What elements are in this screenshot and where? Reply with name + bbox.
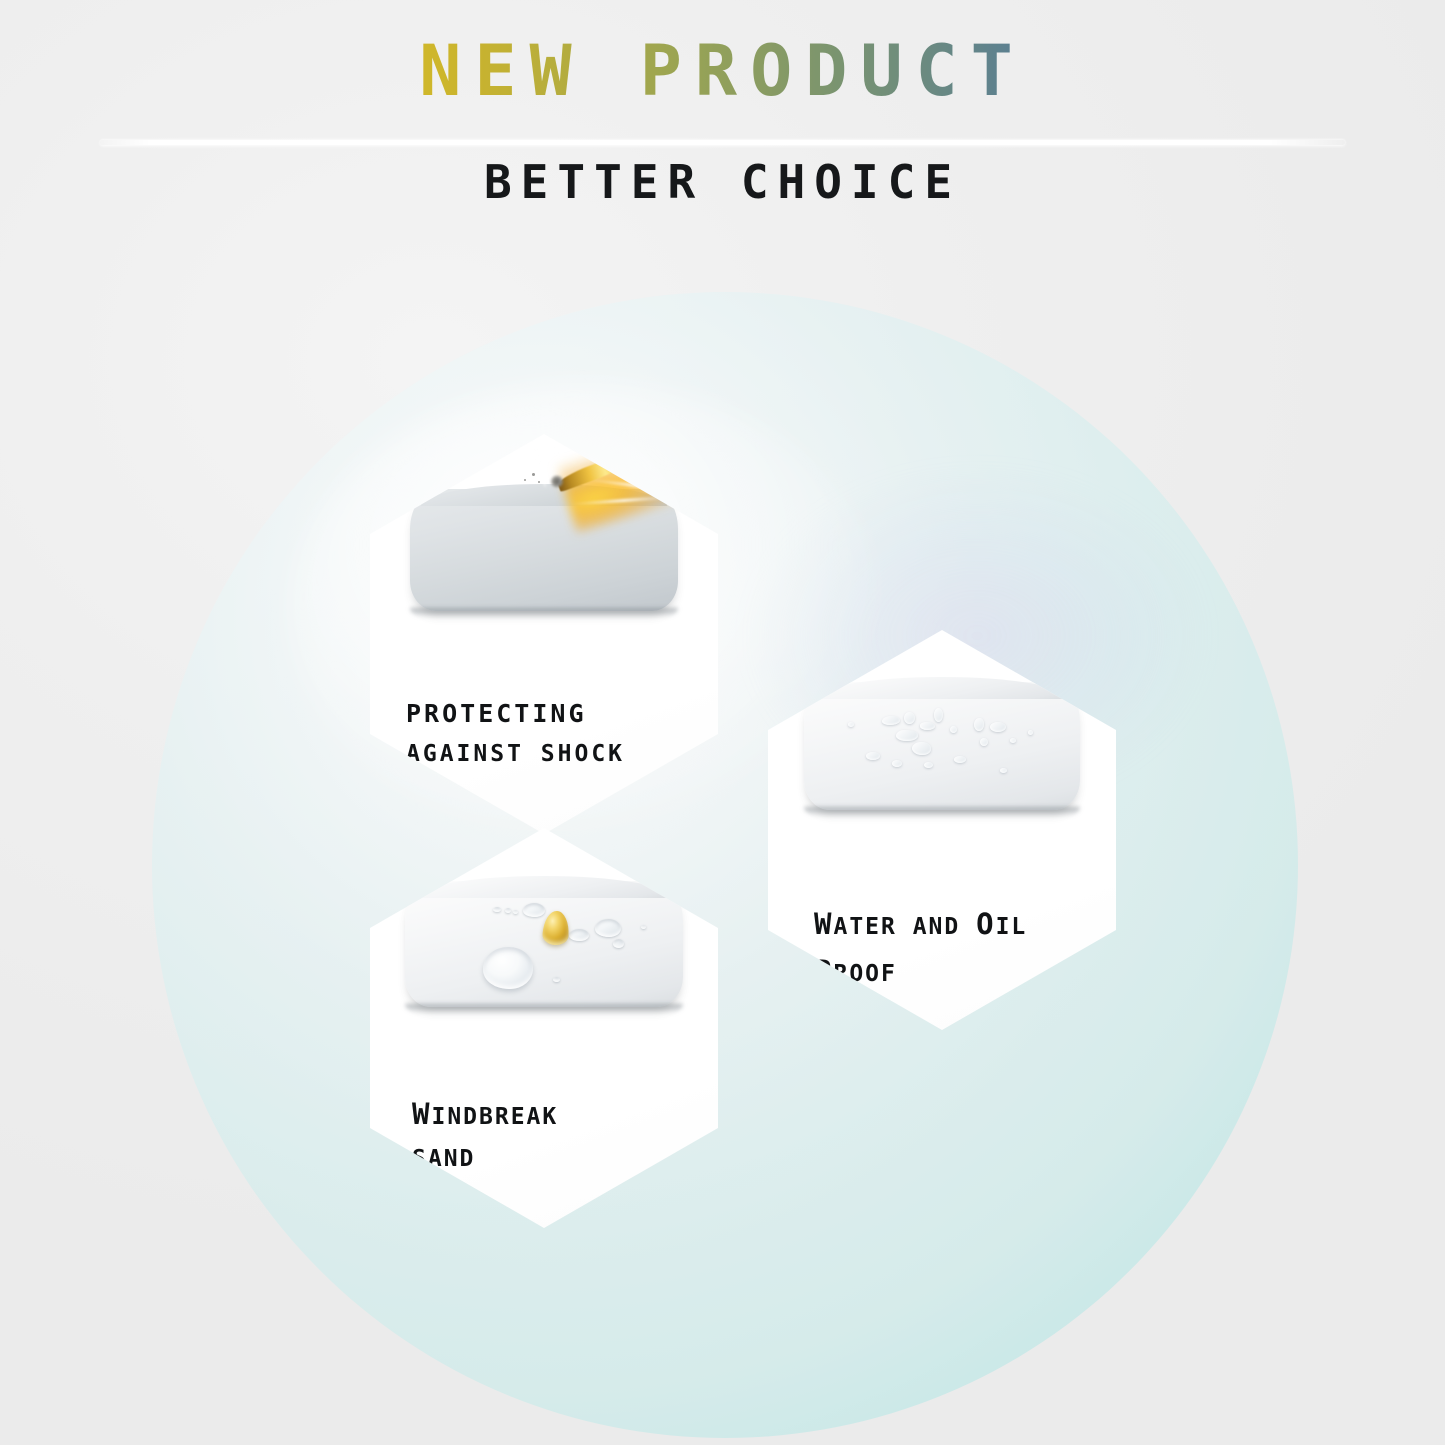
water-droplet — [1000, 768, 1007, 773]
page-title: NEW PRODUCT — [0, 0, 1445, 107]
feature-label-line2: SAND — [412, 1143, 718, 1176]
water-droplet — [920, 722, 935, 730]
water-droplet — [513, 910, 518, 914]
lens-icon — [804, 682, 1080, 810]
lens-body — [410, 489, 678, 611]
streak — [546, 389, 561, 485]
water-droplet — [950, 726, 957, 733]
streak — [582, 411, 605, 488]
water-droplet — [613, 939, 624, 948]
lens-icon — [405, 881, 683, 1007]
water-droplet — [641, 925, 646, 929]
water-droplet — [1028, 730, 1033, 735]
feature-card-water-and-oil-proof[interactable]: WATER AND OIL PROOF — [768, 630, 1116, 1030]
large-water-droplet — [483, 947, 533, 989]
water-droplet — [505, 908, 511, 913]
poster-header: NEW PRODUCT BETTER CHOICE — [0, 0, 1445, 209]
lens-body — [804, 682, 1080, 810]
product-feature-poster: NEW PRODUCT BETTER CHOICE — [0, 0, 1445, 1445]
feature-label-line2: PROOF — [814, 951, 1116, 992]
water-droplet — [866, 752, 880, 760]
water-droplet — [912, 742, 931, 755]
feature-label-water-oil: WATER AND OIL PROOF — [768, 904, 1116, 992]
feature-label-line1: WATER AND OIL — [814, 904, 1116, 945]
water-droplet — [1010, 738, 1016, 743]
feature-label-windbreak: WINDBREAK SAND — [370, 1094, 718, 1176]
page-subtitle: BETTER CHOICE — [0, 155, 1445, 209]
water-droplet — [892, 760, 902, 767]
lens-icon — [410, 489, 678, 611]
feature-label-shock: PROTECTING AGAINST SHOCK — [370, 696, 718, 770]
water-lens-illustration — [768, 630, 1116, 862]
water-droplet — [553, 977, 560, 982]
feature-label-line1: WINDBREAK — [412, 1094, 718, 1135]
dust-particle — [532, 473, 535, 476]
water-droplet — [848, 722, 854, 727]
water-droplet — [904, 712, 915, 724]
water-droplet — [896, 730, 918, 741]
shock-lens-illustration — [370, 434, 718, 666]
windbreak-lens-illustration — [370, 828, 718, 1060]
dust-particle — [524, 479, 526, 481]
feature-label-line1: PROTECTING — [406, 696, 718, 732]
water-droplet — [493, 907, 501, 912]
water-droplet — [924, 762, 933, 768]
lens-body — [405, 881, 683, 1007]
water-droplet — [990, 722, 1006, 732]
feature-label-line2: AGAINST SHOCK — [406, 738, 718, 771]
water-droplet — [980, 738, 988, 746]
dust-particle — [538, 481, 540, 483]
water-droplet — [523, 903, 545, 917]
streak — [525, 419, 547, 487]
feature-card-windbreak-sand[interactable]: WINDBREAK SAND — [370, 828, 718, 1228]
water-droplet — [974, 718, 984, 731]
water-droplet — [595, 919, 621, 937]
feature-hexagon-group: PROTECTING AGAINST SHOCK — [0, 0, 1445, 1445]
streak — [570, 397, 582, 485]
feature-card-protecting-against-shock[interactable]: PROTECTING AGAINST SHOCK — [370, 434, 718, 834]
water-droplet — [954, 756, 966, 763]
streak — [595, 450, 689, 477]
water-droplet — [569, 929, 589, 941]
title-divider — [100, 140, 1345, 145]
water-droplet — [934, 708, 943, 722]
